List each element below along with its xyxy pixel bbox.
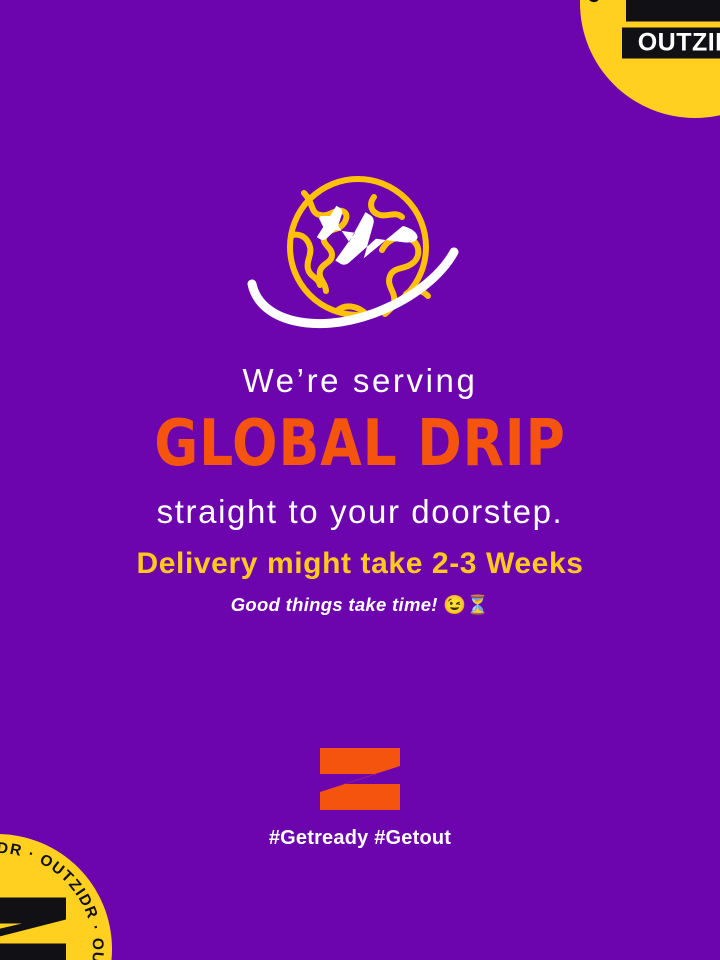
brand-badge-bottom-left: OUTZIDR · OUTZIDR · OUTZIDR · OUTZIDR · … [0, 834, 112, 960]
globe-airplane-icon [246, 172, 474, 338]
badge-z-icon-bottom-left [0, 894, 70, 960]
badge-core-bottom-left: OUTZIDR [0, 894, 70, 960]
delivery-tagline: Good things take time! 😉⏳ [0, 594, 720, 616]
hero-illustration [0, 172, 720, 338]
badge-z-icon-top-right [622, 0, 720, 26]
delivery-tagline-text: Good things take time! [231, 594, 438, 615]
z-logo-mark [320, 748, 400, 810]
footer-hashtags: #Getready #Getout [0, 827, 720, 850]
copy-headline-global-drip: GLOBAL DRIP [25, 410, 695, 479]
delivery-notice-block: Delivery might take 2-3 Weeks Good thing… [0, 546, 720, 616]
promo-poster: OUTZIDR · OUTZIDR · OUTZIDR · OUTZIDR · … [0, 0, 720, 960]
footer-block: #Getready #Getout [0, 748, 720, 850]
headline-block: We’re serving GLOBAL DRIP straight to yo… [0, 362, 720, 531]
copy-line-doorstep: straight to your doorstep. [0, 493, 720, 531]
tagline-emoji: 😉⏳ [443, 594, 489, 615]
badge-core-top-right: OUTZIDR [622, 0, 720, 59]
badge-wordmark-top-right: OUTZIDR [622, 28, 720, 59]
copy-line-serving: We’re serving [0, 362, 720, 400]
delivery-eta-text: Delivery might take 2-3 Weeks [0, 546, 720, 582]
brand-badge-top-right: OUTZIDR · OUTZIDR · OUTZIDR · OUTZIDR · … [580, 0, 720, 118]
